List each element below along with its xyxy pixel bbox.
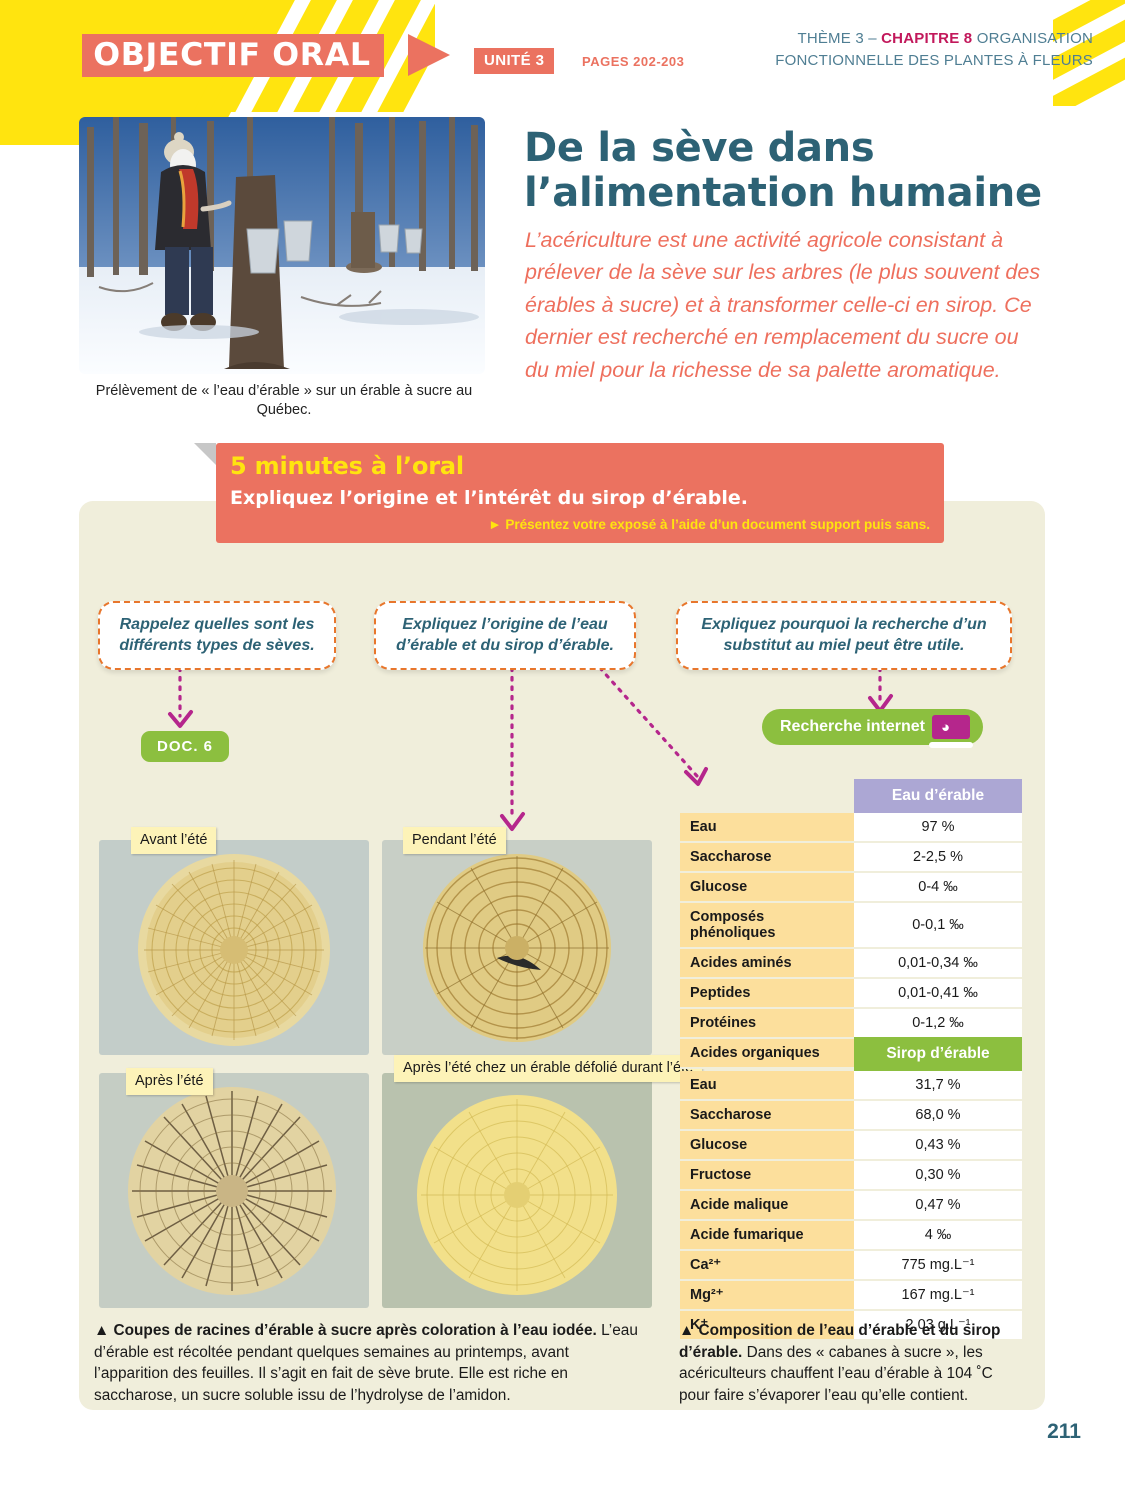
table-cell-value: 97 %	[854, 813, 1022, 842]
table-cell-label: Fructose	[680, 1160, 854, 1190]
image-label-1: Avant l’été	[131, 827, 216, 854]
banner-arrow-icon	[408, 34, 450, 76]
table-cell-value: 0-0,1 ‰	[854, 902, 1022, 948]
table-cell-label: Eau	[680, 1071, 854, 1100]
table-body-eau: Eau97 %Saccharose2-2,5 %Glucose0-4 ‰Comp…	[680, 813, 1022, 1068]
table-cell-value: 0-4 ‰	[854, 872, 1022, 902]
table-cell-value: 0,01-0,34 ‰	[854, 948, 1022, 978]
table-row: Acides aminés0,01-0,34 ‰	[680, 948, 1022, 978]
oral-title: 5 minutes à l’oral	[230, 452, 464, 480]
table-row: Acide fumarique4 ‰	[680, 1220, 1022, 1250]
page-number: 211	[1047, 1420, 1081, 1444]
table-cell-label: Peptides	[680, 978, 854, 1008]
page-title-line2: l’alimentation humaine	[524, 171, 1044, 216]
table-header-blank	[680, 779, 854, 813]
table-cell-label: Acides aminés	[680, 948, 854, 978]
doc-reference-chip[interactable]: DOC. 6	[141, 731, 229, 762]
unit-chip: UNITÉ 3	[474, 48, 554, 74]
table-cell-label: Glucose	[680, 872, 854, 902]
intro-paragraph: L’acériculture est une activité agricole…	[525, 224, 1045, 386]
table-row: Composés phénoliques0-0,1 ‰	[680, 902, 1022, 948]
table-row: Protéines0-1,2 ‰	[680, 1008, 1022, 1038]
image-label-2: Pendant l’été	[403, 827, 506, 854]
table-header-sirop-erable: Sirop d’érable	[854, 1037, 1022, 1071]
table-cell-label: Composés phénoliques	[680, 902, 854, 948]
table-cell-label: Acide malique	[680, 1190, 854, 1220]
table-cell-value: 0-1,2 ‰	[854, 1008, 1022, 1038]
theme-prefix: THÈME 3 –	[797, 30, 881, 47]
table-row: Mg²⁺167 mg.L⁻¹	[680, 1280, 1022, 1310]
image-label-4: Après l’été chez un érable défolié duran…	[394, 1055, 702, 1082]
internet-research-chip[interactable]: Recherche internet ◕	[762, 709, 983, 745]
table-row: Saccharose68,0 %	[680, 1100, 1022, 1130]
oral-task-box: 5 minutes à l’oral Expliquez l’origine e…	[216, 443, 944, 543]
table-cell-value: 775 mg.L⁻¹	[854, 1250, 1022, 1280]
question-bubble-3: Expliquez pourquoi la recherche d’un sub…	[676, 601, 1012, 670]
laptop-wifi-icon: ◕	[929, 715, 973, 748]
table-body-sirop: Eau31,7 %Saccharose68,0 %Glucose0,43 %Fr…	[680, 1071, 1022, 1340]
table-cell-label: Eau	[680, 813, 854, 842]
caption-right: ▲ Composition de l’eau d’érable et du si…	[679, 1320, 1024, 1406]
table-row: Saccharose2-2,5 %	[680, 842, 1022, 872]
page-title: De la sève dans l’alimentation humaine	[524, 126, 1044, 216]
table-cell-value: 4 ‰	[854, 1220, 1022, 1250]
table-cell-value: 0,01-0,41 ‰	[854, 978, 1022, 1008]
composition-table-sirop-erable: Sirop d’érable Eau31,7 %Saccharose68,0 %…	[680, 1037, 1022, 1341]
maple-sap-harvest-photo	[79, 117, 485, 374]
oral-hint: ► Présentez votre exposé à l’aide d’un d…	[488, 517, 930, 532]
caption-left-bold: ▲ Coupes de racines d’érable à sucre apr…	[94, 1322, 597, 1339]
table-header-eau-erable: Eau d’érable	[854, 779, 1022, 813]
table-row: Glucose0-4 ‰	[680, 872, 1022, 902]
table-row: Peptides0,01-0,41 ‰	[680, 978, 1022, 1008]
table-cell-value: 0,43 %	[854, 1130, 1022, 1160]
table-cell-value: 68,0 %	[854, 1100, 1022, 1130]
table-cell-label: Ca²⁺	[680, 1250, 854, 1280]
table-cell-value: 0,47 %	[854, 1190, 1022, 1220]
table-row: Eau31,7 %	[680, 1071, 1022, 1100]
table-cell-label: Mg²⁺	[680, 1280, 854, 1310]
question-bubble-1: Rappelez quelles sont les différents typ…	[98, 601, 336, 670]
oral-instruction: Expliquez l’origine et l’intérêt du siro…	[230, 487, 748, 509]
root-section-image-3	[99, 1073, 369, 1308]
table-header-blank	[680, 1037, 854, 1071]
root-section-image-2	[382, 840, 652, 1055]
theme-chapter: CHAPITRE 8	[881, 30, 972, 47]
textbook-page: OBJECTIF ORAL UNITÉ 3 PAGES 202-203 THÈM…	[0, 0, 1125, 1500]
caption-left: ▲ Coupes de racines d’érable à sucre apr…	[94, 1320, 646, 1406]
objectif-oral-banner: OBJECTIF ORAL	[82, 34, 384, 77]
question-bubble-2: Expliquez l’origine de l’eau d’érable et…	[374, 601, 636, 670]
pages-label: PAGES 202-203	[582, 54, 684, 69]
root-section-image-1	[99, 840, 369, 1055]
table-cell-value: 31,7 %	[854, 1071, 1022, 1100]
objectif-oral-label: OBJECTIF ORAL	[93, 40, 370, 71]
page-title-line1: De la sève dans	[524, 126, 1044, 171]
photo-caption: Prélèvement de « l’eau d’érable » sur un…	[79, 382, 489, 420]
composition-table-eau-erable: Eau d’érable Eau97 %Saccharose2-2,5 %Glu…	[680, 779, 1022, 1069]
table-cell-label: Saccharose	[680, 842, 854, 872]
table-row: Acide malique0,47 %	[680, 1190, 1022, 1220]
theme-chapter-line: THÈME 3 – CHAPITRE 8 ORGANISATION FONCTI…	[673, 28, 1093, 72]
table-row: Glucose0,43 %	[680, 1130, 1022, 1160]
table-cell-label: Saccharose	[680, 1100, 854, 1130]
table-cell-label: Glucose	[680, 1130, 854, 1160]
table-row: Fructose0,30 %	[680, 1160, 1022, 1190]
table-cell-label: Acide fumarique	[680, 1220, 854, 1250]
table-cell-value: 0,30 %	[854, 1160, 1022, 1190]
table-row: Eau97 %	[680, 813, 1022, 842]
internet-research-label: Recherche internet	[780, 718, 925, 735]
root-section-image-4	[382, 1073, 652, 1308]
table-cell-value: 2-2,5 %	[854, 842, 1022, 872]
image-label-3: Après l’été	[126, 1068, 213, 1095]
table-cell-label: Protéines	[680, 1008, 854, 1038]
table-cell-value: 167 mg.L⁻¹	[854, 1280, 1022, 1310]
table-row: Ca²⁺775 mg.L⁻¹	[680, 1250, 1022, 1280]
